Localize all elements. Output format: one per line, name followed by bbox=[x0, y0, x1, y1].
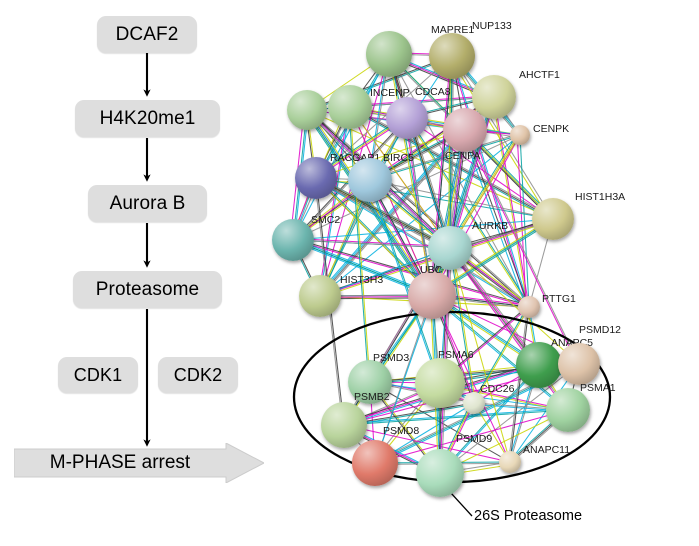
network-node-psmd8[interactable] bbox=[352, 440, 398, 486]
network-node-label-psmd3: PSMD3 bbox=[373, 352, 409, 364]
network-node-label-smc2: SMC2 bbox=[311, 214, 340, 226]
network-node-nup133[interactable] bbox=[429, 33, 475, 79]
network-node-ubc[interactable] bbox=[408, 271, 456, 319]
network-node-psmd12[interactable] bbox=[558, 343, 600, 385]
pathway-node-dcaf2-label: DCAF2 bbox=[116, 24, 179, 46]
network-node-cdca8[interactable] bbox=[386, 97, 428, 139]
network-node-label-cenpa: CENPA bbox=[445, 150, 480, 162]
pathway-flowchart-panel: DCAF2 H4K20me1 Aurora B Proteasome CDK1 … bbox=[0, 0, 280, 546]
network-node-hist3h3[interactable] bbox=[299, 275, 341, 317]
pathway-terminal-mphase[interactable]: M-PHASE arrest bbox=[14, 443, 264, 483]
network-node-label-hist3h3: HIST3H3 bbox=[340, 274, 383, 286]
pathway-node-h4k20me1[interactable]: H4K20me1 bbox=[75, 100, 220, 137]
network-node-label-birc5: BIRC5 bbox=[383, 152, 414, 164]
network-node-label-psmd8: PSMD8 bbox=[383, 425, 419, 437]
pathway-node-cdk2-label: CDK2 bbox=[174, 365, 222, 386]
network-node-label-psmd12: PSMD12 bbox=[579, 324, 621, 336]
network-node-cenpk[interactable] bbox=[510, 125, 530, 145]
network-node-label-cdc26: CDC26 bbox=[480, 383, 514, 395]
network-node-anapc11[interactable] bbox=[499, 451, 521, 473]
network-node-label-pttg1: PTTG1 bbox=[542, 293, 576, 305]
network-node-label-cdca8: CDCA8 bbox=[415, 86, 451, 98]
string-network-panel: AIM1INCENPMAPRE1NUP133AHCTF1CDCA8CENPACE… bbox=[262, 0, 699, 546]
network-node-psma1[interactable] bbox=[546, 388, 590, 432]
figure-root: DCAF2 H4K20me1 Aurora B Proteasome CDK1 … bbox=[0, 0, 699, 546]
network-node-cenpa[interactable] bbox=[443, 108, 487, 152]
network-node-hist1h3a[interactable] bbox=[532, 198, 574, 240]
network-node-label-psma1: PSMA1 bbox=[580, 382, 616, 394]
network-node-pttg1[interactable] bbox=[518, 296, 540, 318]
network-node-smc2[interactable] bbox=[272, 219, 314, 261]
pathway-node-h4k20me1-label: H4K20me1 bbox=[100, 108, 196, 130]
network-node-label-hist1h3a: HIST1H3A bbox=[575, 191, 625, 203]
network-node-psmb2[interactable] bbox=[321, 402, 367, 448]
pathway-node-dcaf2[interactable]: DCAF2 bbox=[97, 16, 197, 53]
network-node-mapre1[interactable] bbox=[366, 31, 412, 77]
network-node-label-ubc: UBC bbox=[420, 264, 442, 276]
network-node-aim1[interactable] bbox=[287, 90, 327, 130]
network-node-psmd9[interactable] bbox=[416, 449, 464, 497]
pathway-node-proteasome[interactable]: Proteasome bbox=[73, 271, 222, 308]
network-node-label-aurkb: AURKB bbox=[472, 220, 508, 232]
cluster-caption: 26S Proteasome bbox=[474, 508, 582, 524]
network-node-label-psmb2: PSMB2 bbox=[354, 391, 390, 403]
pathway-node-cdk1-label: CDK1 bbox=[74, 365, 122, 386]
network-node-incenp[interactable] bbox=[328, 85, 372, 129]
network-node-psma6[interactable] bbox=[415, 358, 465, 408]
pathway-node-aurora-b-label: Aurora B bbox=[110, 193, 186, 215]
network-node-birc5[interactable] bbox=[348, 158, 392, 202]
pathway-node-cdk1[interactable]: CDK1 bbox=[58, 357, 138, 393]
network-node-cdc26[interactable] bbox=[463, 392, 485, 414]
pathway-node-proteasome-label: Proteasome bbox=[96, 279, 199, 301]
network-node-label-anapc11: ANAPC11 bbox=[523, 444, 570, 456]
pathway-node-aurora-b[interactable]: Aurora B bbox=[88, 185, 207, 222]
network-node-label-psma6: PSMA6 bbox=[438, 349, 474, 361]
pathway-node-cdk2[interactable]: CDK2 bbox=[158, 357, 238, 393]
network-node-label-psmd9: PSMD9 bbox=[456, 433, 492, 445]
pathway-terminal-label: M-PHASE arrest bbox=[14, 443, 226, 483]
network-node-label-ahctf1: AHCTF1 bbox=[519, 69, 560, 81]
network-node-label-nup133: NUP133 bbox=[472, 20, 512, 32]
network-node-label-cenpk: CENPK bbox=[533, 123, 569, 135]
